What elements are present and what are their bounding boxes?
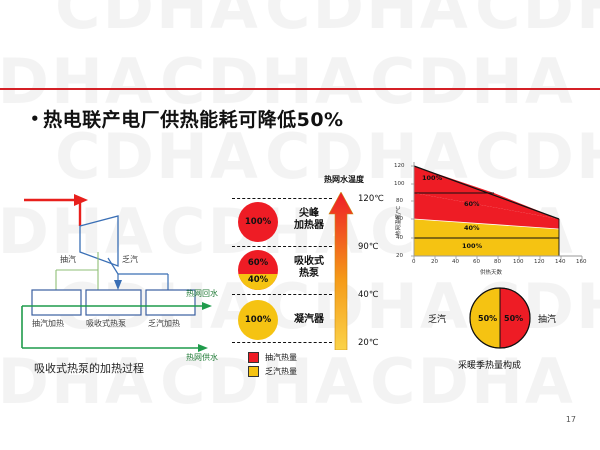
pie-value-exhaust: 50% (478, 314, 497, 323)
x-tick-80: 80 (494, 259, 501, 265)
turbine-shape (80, 216, 118, 266)
temperature-gradient-arrow-icon (328, 192, 354, 350)
exhaust-steam-pipe (108, 258, 168, 290)
dashed-line-40 (232, 294, 332, 295)
stage-yellow-pct: 40% (238, 275, 278, 285)
y-tick-100: 100 (394, 181, 405, 187)
label-extraction-steam: 抽汽 (60, 254, 76, 265)
stage-name-peak-heater: 尖峰 加热器 (286, 208, 332, 232)
supply-water-line (22, 344, 208, 352)
temperature-tick-90: 90℃ (358, 242, 378, 252)
legend-swatch-red-icon (248, 352, 259, 363)
page-title: •热电联产电厂供热能耗可降低50% (30, 105, 344, 132)
x-tick-20: 20 (431, 259, 438, 265)
dashed-line-90 (232, 246, 332, 247)
stage-name-condenser: 凝汽器 (286, 314, 332, 326)
stage-circle-peak-heater: 100% (238, 202, 278, 242)
stage-red-pct: 100% (238, 217, 278, 227)
header-divider (0, 88, 600, 90)
watermark-text: CDHA (370, 45, 575, 118)
box-label-exhaust-heater: 乏汽加热 (148, 318, 180, 329)
main-steam-arrow-icon (24, 194, 88, 226)
pie-label-exhaust: 乏汽 (428, 312, 446, 325)
temperature-tick-120: 120℃ (358, 194, 384, 204)
pie-chart: 乏汽 抽汽 50% 50% 采暖季热量构成 (420, 284, 590, 384)
y-tick-120: 120 (394, 163, 405, 169)
watermark-text: CDHA (265, 0, 470, 43)
process-diagram-svg (18, 178, 233, 378)
area-band-condenser (414, 238, 559, 256)
watermark-text: CDHA (55, 0, 260, 43)
stage-yellow-pct: 100% (238, 315, 278, 325)
y-tick-20: 20 (396, 253, 403, 259)
stage-circle-condenser: 100% (238, 300, 278, 340)
box-label-extraction-heater: 抽汽加热 (32, 318, 64, 329)
legend-item-extraction-heat: 抽汽热量 (248, 352, 297, 363)
x-tick-120: 120 (534, 259, 545, 265)
area-label-hp-40: 40% (464, 224, 480, 232)
watermark-text: CDHA (475, 0, 600, 43)
legend-swatch-yellow-icon (248, 366, 259, 377)
label-supply-water: 热网供水 (186, 352, 218, 363)
x-tick-0: 0 (412, 259, 416, 265)
pie-label-extraction: 抽汽 (538, 312, 556, 325)
temperature-tick-20: 20℃ (358, 338, 378, 348)
legend-label-extraction-heat: 抽汽热量 (265, 352, 297, 363)
x-axis-title: 供热天数 (480, 268, 502, 276)
title-text: 热电联产电厂供热能耗可降低50% (43, 109, 343, 131)
label-return-water: 热网回水 (186, 288, 218, 299)
slide: CDHA CDHA CDHA CDHA CDHA CDHA CDHA CDHA … (0, 0, 600, 450)
label-exhaust-steam: 乏汽 (122, 254, 138, 265)
legend-label-exhaust-heat: 乏汽热量 (265, 366, 297, 377)
dashed-line-120 (232, 198, 332, 199)
x-tick-60: 60 (473, 259, 480, 265)
pie-chart-caption: 采暖季热量构成 (458, 358, 521, 371)
box-label-absorption-heat-pump: 吸收式热泵 (86, 318, 126, 329)
area-label-hp-60: 60% (464, 200, 480, 208)
area-chart: 20 40 60 80 100 120 0 20 40 60 80 100 12… (392, 158, 592, 278)
center-panel: 100% 尖峰 加热器 60% 40% 吸收式 热泵 100% 凝汽器 热网水温… (228, 160, 388, 380)
stage-name-absorption-heat-pump: 吸收式 热泵 (286, 256, 332, 280)
process-diagram: 抽汽 乏汽 热网回水 热网供水 抽汽加热 吸收式热泵 乏汽加热 (18, 178, 233, 378)
y-tick-80: 80 (396, 198, 403, 204)
x-tick-100: 100 (513, 259, 524, 265)
page-number: 17 (566, 415, 576, 424)
stage-red-pct: 60% (238, 258, 278, 268)
x-tick-160: 160 (576, 259, 587, 265)
stage-circle-absorption-heat-pump: 60% 40% (238, 250, 278, 290)
box-absorption-heat-pump (86, 290, 141, 315)
title-bullet-icon: • (30, 110, 40, 128)
temperature-scale-title: 热网水温度 (324, 174, 364, 185)
pie-value-extraction: 50% (504, 314, 523, 323)
box-extraction-heater (32, 290, 81, 315)
process-diagram-caption: 吸收式热泵的加热过程 (34, 360, 144, 376)
x-tick-140: 140 (555, 259, 566, 265)
area-label-peak-100: 100% (422, 174, 442, 182)
y-axis-title: 热网温度/℃ (394, 206, 402, 236)
area-label-cond-100: 100% (462, 242, 482, 250)
dashed-line-20 (232, 342, 332, 343)
temperature-tick-40: 40℃ (358, 290, 378, 300)
legend-item-exhaust-heat: 乏汽热量 (248, 366, 297, 377)
x-tick-40: 40 (452, 259, 459, 265)
